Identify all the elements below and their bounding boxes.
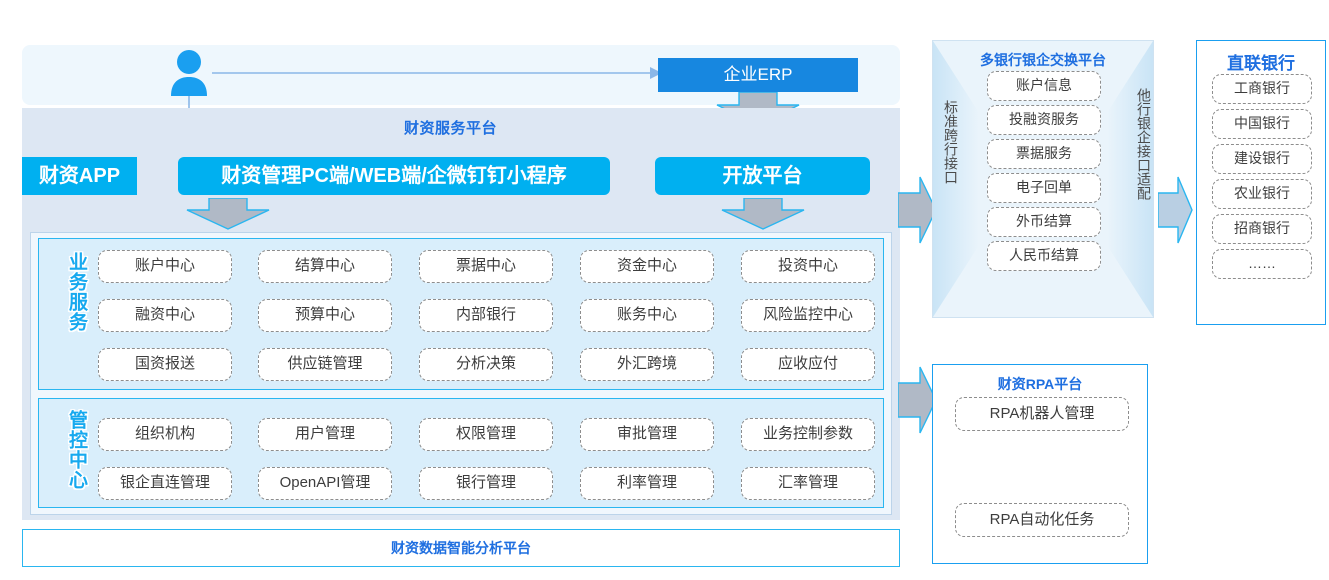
- module-chip[interactable]: 账务中心: [580, 299, 714, 332]
- enterprise-erp-box[interactable]: 企业ERP: [658, 58, 858, 92]
- direct-bank-list: 工商银行 中国银行 建设银行 农业银行 招商银行 ……: [1212, 74, 1312, 284]
- multibank-chip[interactable]: 电子回单: [987, 173, 1101, 203]
- module-chip[interactable]: 审批管理: [580, 418, 714, 451]
- multibank-chip[interactable]: 投融资服务: [987, 105, 1101, 135]
- module-chip[interactable]: 业务控制参数: [741, 418, 875, 451]
- person-icon: [166, 48, 212, 96]
- arrow-right-directbank-icon: [1158, 175, 1194, 245]
- module-chip[interactable]: 国资报送: [98, 348, 232, 381]
- architecture-diagram: 企业ERP 财资服务平台 财资APP 财资管理PC端/WEB端/企微钉钉小程序 …: [0, 0, 1329, 580]
- module-chip[interactable]: 用户管理: [258, 418, 392, 451]
- analytics-platform-bar[interactable]: 财资数据智能分析平台: [22, 529, 900, 567]
- direct-bank-panel: 直联银行 工商银行 中国银行 建设银行 农业银行 招商银行 ……: [1196, 40, 1326, 325]
- module-chip[interactable]: 权限管理: [419, 418, 553, 451]
- module-chip[interactable]: 结算中心: [258, 250, 392, 283]
- direct-bank-title: 直联银行: [1197, 49, 1325, 74]
- module-chip[interactable]: 汇率管理: [741, 467, 875, 500]
- module-chip[interactable]: 外汇跨境: [580, 348, 714, 381]
- service-platform-title: 财资服务平台: [404, 117, 624, 137]
- multibank-item-list: 账户信息 投融资服务 票据服务 电子回单 外币结算 人民币结算: [987, 71, 1101, 275]
- multibank-title: 多银行银企交换平台: [933, 50, 1153, 70]
- module-chip[interactable]: 融资中心: [98, 299, 232, 332]
- arrow-down-open-icon: [720, 198, 806, 230]
- module-chip[interactable]: 账户中心: [98, 250, 232, 283]
- control-center-grid: 组织机构 用户管理 权限管理 审批管理 业务控制参数 银企直连管理 OpenAP…: [98, 418, 878, 500]
- business-services-label: 业务服务: [58, 252, 86, 376]
- module-chip[interactable]: 预算中心: [258, 299, 392, 332]
- control-center-label: 管控中心: [58, 410, 86, 498]
- multibank-chip[interactable]: 账户信息: [987, 71, 1101, 101]
- module-chip[interactable]: 投资中心: [741, 250, 875, 283]
- module-chip[interactable]: OpenAPI管理: [258, 467, 392, 500]
- bank-chip-more[interactable]: ……: [1212, 249, 1312, 279]
- multibank-chip[interactable]: 票据服务: [987, 139, 1101, 169]
- multibank-chip[interactable]: 人民币结算: [987, 241, 1101, 271]
- rpa-robot-management-chip[interactable]: RPA机器人管理: [955, 397, 1129, 431]
- multibank-chip[interactable]: 外币结算: [987, 207, 1101, 237]
- bank-chip[interactable]: 工商银行: [1212, 74, 1312, 104]
- module-chip[interactable]: 票据中心: [419, 250, 553, 283]
- bank-chip[interactable]: 建设银行: [1212, 144, 1312, 174]
- bank-chip[interactable]: 招商银行: [1212, 214, 1312, 244]
- channel-open-platform-box[interactable]: 开放平台: [655, 157, 870, 195]
- business-services-grid: 账户中心 结算中心 票据中心 资金中心 投资中心 融资中心 预算中心 内部银行 …: [98, 250, 878, 380]
- module-chip[interactable]: 组织机构: [98, 418, 232, 451]
- module-chip[interactable]: 利率管理: [580, 467, 714, 500]
- module-chip[interactable]: 供应链管理: [258, 348, 392, 381]
- module-chip[interactable]: 资金中心: [580, 250, 714, 283]
- multibank-exchange-panel: 多银行银企交换平台 账户信息 投融资服务 票据服务 电子回单 外币结算 人民币结…: [932, 40, 1154, 318]
- rpa-platform-panel: 财资RPA平台 RPA机器人管理 RPA自动化任务: [932, 364, 1148, 564]
- bank-chip[interactable]: 中国银行: [1212, 109, 1312, 139]
- bank-chip[interactable]: 农业银行: [1212, 179, 1312, 209]
- arrow-down-pcweb-icon: [185, 198, 271, 230]
- module-chip[interactable]: 银企直连管理: [98, 467, 232, 500]
- channel-app-box[interactable]: 财资APP: [22, 157, 137, 195]
- standard-crossbank-interface-label: 标准跨行接口: [938, 100, 958, 250]
- module-chip[interactable]: 内部银行: [419, 299, 553, 332]
- module-chip[interactable]: 风险监控中心: [741, 299, 875, 332]
- module-chip[interactable]: 银行管理: [419, 467, 553, 500]
- channel-pcweb-box[interactable]: 财资管理PC端/WEB端/企微钉钉小程序: [178, 157, 610, 195]
- rpa-platform-title: 财资RPA平台: [933, 374, 1147, 394]
- other-bank-interface-adapter-label: 他行银企接口适配: [1131, 88, 1151, 258]
- module-chip[interactable]: 应收应付: [741, 348, 875, 381]
- module-chip[interactable]: 分析决策: [419, 348, 553, 381]
- rpa-automation-task-chip[interactable]: RPA自动化任务: [955, 503, 1129, 537]
